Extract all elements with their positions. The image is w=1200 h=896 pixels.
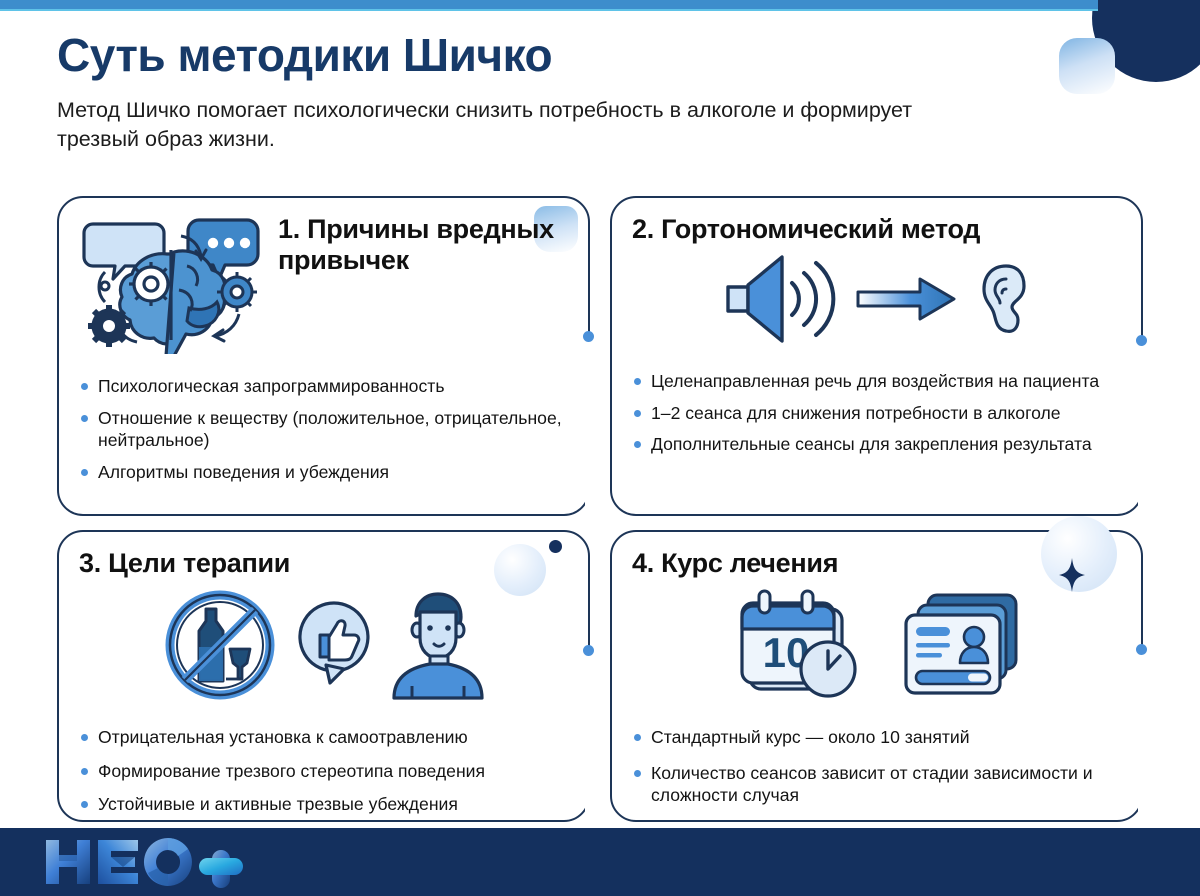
page-title: Суть методики Шичко	[57, 30, 1037, 82]
list-item: Формирование трезвого стереотипа поведен…	[79, 760, 568, 783]
card-header: 2. Гортономический метод	[632, 214, 1121, 245]
thumbs-up-bubble-icon	[296, 599, 372, 696]
id-cards-icon	[898, 589, 1022, 706]
list-item: Целенаправленная речь для воздействия на…	[632, 370, 1121, 393]
person-icon	[390, 590, 486, 705]
decorative-gradient-squircle	[1059, 38, 1115, 94]
list-item: Алгоритмы поведения и убеждения	[79, 461, 568, 484]
ear-icon	[978, 262, 1034, 341]
list-item: Стандартный курс — около 10 занятий	[632, 726, 1121, 749]
brand-logo	[42, 836, 272, 888]
brain-gears-icon	[79, 214, 274, 359]
border-gap-decor	[1138, 344, 1145, 515]
card-hortonomic-method: 2. Гортономический метод	[610, 196, 1143, 516]
card-icon-row	[632, 253, 1121, 350]
list-item: Количество сеансов зависит от стадии зав…	[632, 762, 1121, 807]
card-header: 1. Причины вредных привычек	[79, 214, 568, 359]
card-bullet-list: Психологическая запрограммированность От…	[79, 375, 568, 483]
card-causes-of-bad-habits: 1. Причины вредных привычек Психологичес…	[57, 196, 590, 516]
card-icon-row	[79, 587, 568, 708]
list-item: Дополнительные сеансы для закрепления ре…	[632, 433, 1121, 456]
border-gap-decor	[1138, 650, 1145, 820]
card-title: 4. Курс лечения	[632, 548, 838, 579]
arrow-right-icon	[856, 271, 960, 332]
border-gap-decor	[585, 652, 592, 820]
card-title: 3. Цели терапии	[79, 548, 290, 579]
border-gap-decor	[585, 340, 592, 515]
card-title: 2. Гортономический метод	[632, 214, 980, 245]
footer-bar	[0, 828, 1200, 896]
cards-grid: 1. Причины вредных привычек Психологичес…	[57, 196, 1143, 822]
edge-dot-decor	[583, 645, 594, 656]
list-item: Устойчивые и активные трезвые убеждения	[79, 793, 568, 816]
calendar-clock-icon: 10	[732, 587, 864, 708]
page-subtitle: Метод Шичко помогает психологически сниз…	[57, 96, 957, 155]
edge-dot-decor	[1136, 644, 1147, 655]
card-therapy-goals: 3. Цели терапии	[57, 530, 590, 822]
list-item: Отношение к веществу (положительное, отр…	[79, 407, 568, 452]
card-icon-row: 10	[632, 587, 1121, 708]
edge-dot-decor	[1136, 335, 1147, 346]
page-header: Суть методики Шичко Метод Шичко помогает…	[57, 30, 1037, 155]
card-header: 3. Цели терапии	[79, 548, 568, 579]
edge-dot-decor	[583, 331, 594, 342]
speaker-icon	[720, 253, 838, 350]
no-alcohol-icon	[162, 587, 278, 708]
card-title: 1. Причины вредных привычек	[278, 214, 568, 276]
list-item: Отрицательная установка к самоотравлению	[79, 726, 568, 749]
list-item: Психологическая запрограммированность	[79, 375, 568, 398]
card-bullet-list: Отрицательная установка к самоотравлению…	[79, 726, 568, 816]
list-item: 1–2 сеанса для снижения потребности в ал…	[632, 402, 1121, 425]
top-accent-bar-highlight	[0, 9, 1098, 11]
card-bullet-list: Стандартный курс — около 10 занятий Коли…	[632, 726, 1121, 807]
card-treatment-course: 4. Курс лечения 10	[610, 530, 1143, 822]
card-bullet-list: Целенаправленная речь для воздействия на…	[632, 370, 1121, 456]
card-header: 4. Курс лечения	[632, 548, 1121, 579]
